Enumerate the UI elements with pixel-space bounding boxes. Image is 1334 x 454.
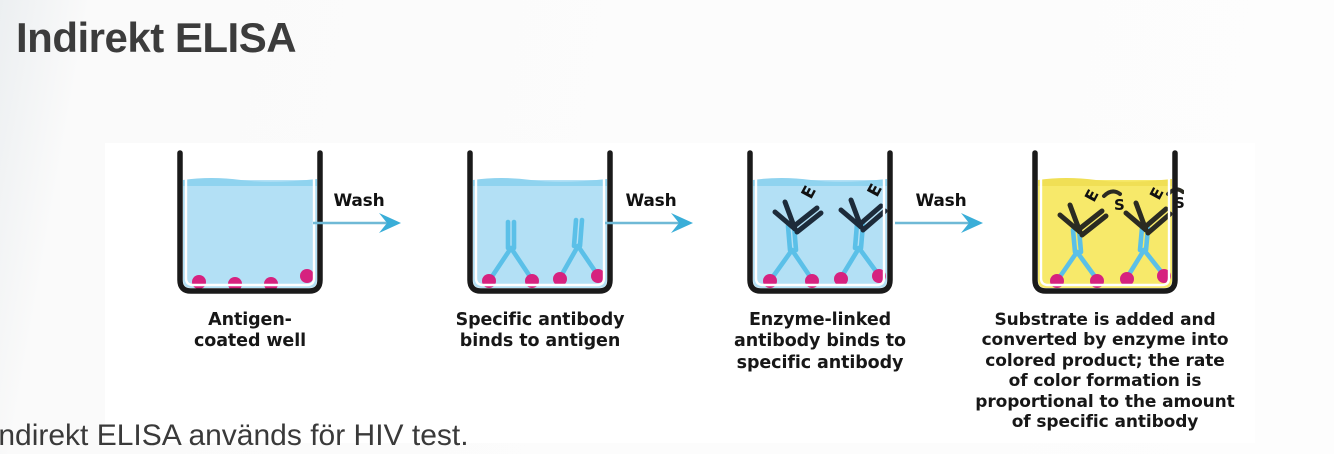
caption-line: Substrate is added and [960, 310, 1250, 330]
caption-line: Antigen- [105, 310, 395, 331]
caption-line: coated well [105, 331, 395, 352]
panel-3-caption: Enzyme-linked antibody binds to specific… [675, 310, 965, 374]
caption-line: binds to antigen [395, 331, 685, 352]
panel-antigen-coated-well: Antigen- coated well [105, 143, 395, 353]
well-1-illustration [171, 148, 329, 300]
caption-line: of color formation is [960, 371, 1250, 391]
wash-label: Wash [313, 191, 405, 211]
well-2-illustration [461, 148, 619, 300]
caption-line: colored product; the rate [960, 351, 1250, 371]
page-title: Indirekt ELISA [16, 14, 296, 62]
substrate-label: S [1114, 196, 1125, 214]
arrow-right-icon [313, 213, 405, 233]
well-4-illustration: E S E S [1026, 148, 1184, 300]
panel-substrate-added: E S E S [960, 143, 1250, 432]
caption-line: proportional to the amount [960, 392, 1250, 412]
well-1 [171, 148, 329, 300]
well-3: E E [741, 148, 899, 300]
wash-arrow-1: Wash [313, 191, 405, 233]
caption-line: of specific antibody [960, 412, 1250, 432]
caption-line: Enzyme-linked [675, 310, 965, 331]
slide-body-text: Indirekt ELISA används för HIV test. [0, 418, 469, 454]
caption-line: converted by enzyme into [960, 330, 1250, 350]
panel-1-caption: Antigen- coated well [105, 310, 395, 353]
panel-enzyme-linked-antibody: E E Enzyme-linked antibody binds to s [675, 143, 965, 374]
indirect-elisa-figure: Antigen- coated well Wash [105, 143, 1255, 443]
panel-4-caption: Substrate is added and converted by enzy… [960, 310, 1250, 432]
caption-line: Specific antibody [395, 310, 685, 331]
caption-line: antibody binds to [675, 331, 965, 352]
well-4: E S E S [1026, 148, 1184, 300]
well-2 [461, 148, 619, 300]
well-3-illustration: E E [741, 148, 899, 300]
panel-specific-antibody-binds: Specific antibody binds to antigen [395, 143, 685, 353]
caption-line: specific antibody [675, 353, 965, 374]
panel-2-caption: Specific antibody binds to antigen [395, 310, 685, 353]
